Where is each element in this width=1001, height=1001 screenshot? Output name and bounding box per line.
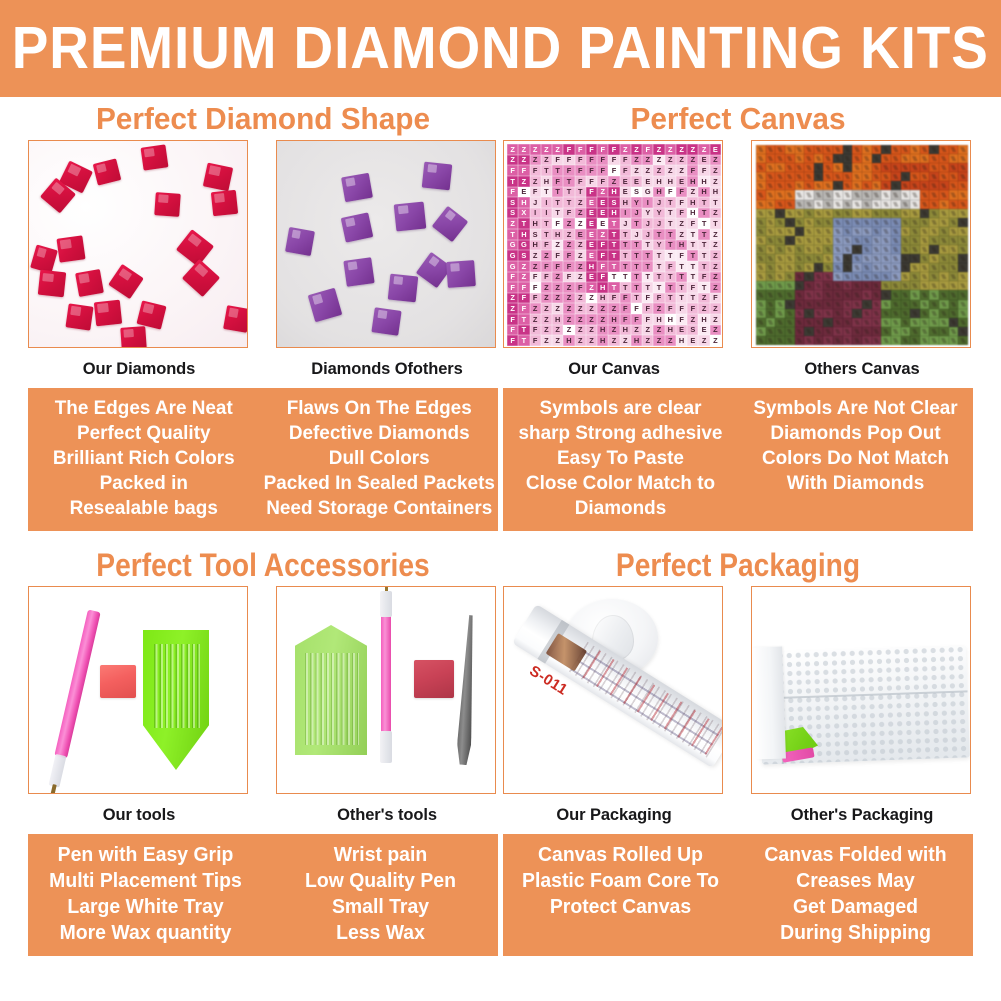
small-green-tray	[295, 625, 367, 755]
tube-label-text: S-011	[526, 662, 570, 699]
light-green-tray-pen-wax-tweezers-photo	[277, 587, 495, 793]
section-heading: Perfect Packaging	[531, 546, 945, 586]
red-square-diamonds-photo	[29, 141, 247, 347]
fact-line: Packed in	[31, 471, 256, 496]
fact-line: Perfect Quality	[31, 421, 256, 446]
blurred-symbol-grid	[756, 145, 968, 345]
fact-line: Low Quality Pen	[267, 868, 495, 894]
cell-label: Our Packaging	[503, 794, 725, 826]
section-heading: Perfect Canvas	[512, 100, 963, 140]
comparison-pair: ZZZZZFFFFFZZFZZZZZEZZZZFFFFFFFZZZZZZEZFF…	[503, 140, 973, 380]
photo-frame	[276, 586, 496, 794]
comparison-cell-ours: ZZZZZFFFFFZZFZZZZZEZZZZFFFFFFFZZZZZZEZFF…	[503, 140, 725, 380]
comparison-cell-others: Others Canvas	[751, 140, 973, 380]
fact-line: Need Storage Containers	[263, 496, 494, 521]
comparison-pair: Our tools Other's tools	[28, 586, 498, 826]
facts-column-others: Flaws On The Edges Defective Diamonds Du…	[263, 396, 494, 521]
cell-label: Other's tools	[276, 794, 498, 826]
wax-square	[100, 665, 136, 698]
facts-column-others: Symbols Are Not Clear Diamonds Pop Out C…	[742, 396, 970, 521]
fact-line: Brilliant Rich Colors	[31, 446, 256, 471]
wax-square	[414, 660, 454, 698]
pink-symbol-canvas-photo: ZZZZZFFFFFZZFZZZZZEZZZZFFFFFFFZZZZZZEZFF…	[504, 141, 722, 347]
fact-line: Plastic Foam Core To	[507, 868, 735, 894]
section-tool-accessories: Perfect Tool Accessories Our tools	[28, 546, 498, 956]
comparison-cell-ours: Our Diamonds	[28, 140, 250, 380]
fact-line: Colors Do Not Match	[742, 446, 970, 471]
cell-label: Other's Packaging	[751, 794, 973, 826]
fact-line: Diamonds	[507, 496, 735, 521]
page-banner: PREMIUM DIAMOND PAINTING KITS	[0, 0, 1001, 97]
photo-frame: ZZZZZFFFFFZZFZZZZZEZZZZFFFFFFFZZZZZZEZFF…	[503, 140, 723, 348]
facts-column-others: Wrist pain Low Quality Pen Small Tray Le…	[267, 842, 495, 946]
facts-box: Symbols are clear sharp Strong adhesive …	[503, 388, 973, 531]
white-bubble-mailer-photo	[752, 587, 970, 793]
mailer-flap	[752, 647, 786, 760]
fact-line: Pen with Easy Grip	[32, 842, 260, 868]
comparison-cell-others: Other's tools	[276, 586, 498, 826]
cell-label: Our Diamonds	[28, 348, 250, 380]
fact-line: During Shipping	[742, 920, 970, 946]
fact-line: Close Color Match to	[507, 471, 735, 496]
fact-line: Creases May	[742, 868, 970, 894]
facts-column-others: Canvas Folded with Creases May Get Damag…	[742, 842, 970, 946]
fact-line: Canvas Folded with	[742, 842, 970, 868]
fact-line: Wrist pain	[267, 842, 495, 868]
fact-line: Packed In Sealed Packets	[263, 471, 494, 496]
fact-line: Canvas Rolled Up	[507, 842, 735, 868]
section-diamond-shape: Perfect Diamond Shape	[28, 100, 498, 531]
fact-line: Flaws On The Edges	[263, 396, 494, 421]
photo-frame	[28, 586, 248, 794]
comparison-pair: Our Diamonds	[28, 140, 498, 380]
fact-line: Get Damaged	[742, 894, 970, 920]
section-heading: Perfect Diamond Shape	[37, 100, 488, 140]
pink-pen	[381, 615, 391, 733]
section-heading: Perfect Tool Accessories	[56, 546, 470, 586]
infographic-page: PREMIUM DIAMOND PAINTING KITS Perfect Di…	[0, 0, 1001, 1001]
section-canvas: Perfect Canvas ZZZZZFFFFFZZFZZZZZEZZZZFF…	[503, 100, 973, 531]
facts-column-ours: Pen with Easy Grip Multi Placement Tips …	[32, 842, 260, 946]
fact-line: Diamonds Pop Out	[742, 421, 970, 446]
cell-label: Diamonds Ofothers	[276, 348, 498, 380]
facts-column-ours: The Edges Are Neat Perfect Quality Brill…	[31, 396, 256, 521]
fact-line: With Diamonds	[742, 471, 970, 496]
photo-frame	[276, 140, 496, 348]
comparison-cell-ours: S-011 Our Packaging	[503, 586, 725, 826]
green-tray	[143, 630, 209, 770]
fact-line: sharp Strong adhesive	[507, 421, 735, 446]
facts-box: Canvas Rolled Up Plastic Foam Core To Pr…	[503, 834, 973, 956]
fact-line: Symbols are clear	[507, 396, 735, 421]
facts-column-ours: Canvas Rolled Up Plastic Foam Core To Pr…	[507, 842, 735, 946]
comparison-cell-others: Diamonds Ofothers	[276, 140, 498, 380]
photo-frame	[751, 140, 971, 348]
fact-line: The Edges Are Neat	[31, 396, 256, 421]
purple-diamonds-photo	[277, 141, 495, 347]
photo-frame	[751, 586, 971, 794]
fact-line: More Wax quantity	[32, 920, 260, 946]
cell-label: Others Canvas	[751, 348, 973, 380]
page-title: PREMIUM DIAMOND PAINTING KITS	[12, 19, 989, 78]
tweezers	[456, 615, 478, 766]
fact-line: Protect Canvas	[507, 894, 735, 920]
fact-line: Symbols Are Not Clear	[742, 396, 970, 421]
white-tube-with-cap-photo: S-011	[504, 587, 722, 793]
facts-box: The Edges Are Neat Perfect Quality Brill…	[28, 388, 498, 531]
comparison-cell-others: Other's Packaging	[751, 586, 973, 826]
pink-pen-wax-green-tray-photo	[29, 587, 247, 793]
cell-label: Our Canvas	[503, 348, 725, 380]
section-packaging: Perfect Packaging S-011 Ou	[503, 546, 973, 956]
comparison-pair: S-011 Our Packaging	[503, 586, 973, 826]
pink-pen	[54, 609, 100, 758]
fact-line: Less Wax	[267, 920, 495, 946]
fact-line: Easy To Paste	[507, 446, 735, 471]
fact-line: Multi Placement Tips	[32, 868, 260, 894]
blurry-multicolor-canvas-photo	[752, 141, 970, 347]
fact-line: Small Tray	[267, 894, 495, 920]
symbol-grid: ZZZZZFFFFFZZFZZZZZEZZZZFFFFFFFZZZZZZEZFF…	[507, 144, 721, 346]
fact-line: Dull Colors	[263, 446, 494, 471]
comparison-cell-ours: Our tools	[28, 586, 250, 826]
facts-column-ours: Symbols are clear sharp Strong adhesive …	[507, 396, 735, 521]
fact-line: Large White Tray	[32, 894, 260, 920]
fact-line: Resealable bags	[31, 496, 256, 521]
photo-frame: S-011	[503, 586, 723, 794]
facts-box: Pen with Easy Grip Multi Placement Tips …	[28, 834, 498, 956]
photo-frame	[28, 140, 248, 348]
fact-line: Defective Diamonds	[263, 421, 494, 446]
cell-label: Our tools	[28, 794, 250, 826]
